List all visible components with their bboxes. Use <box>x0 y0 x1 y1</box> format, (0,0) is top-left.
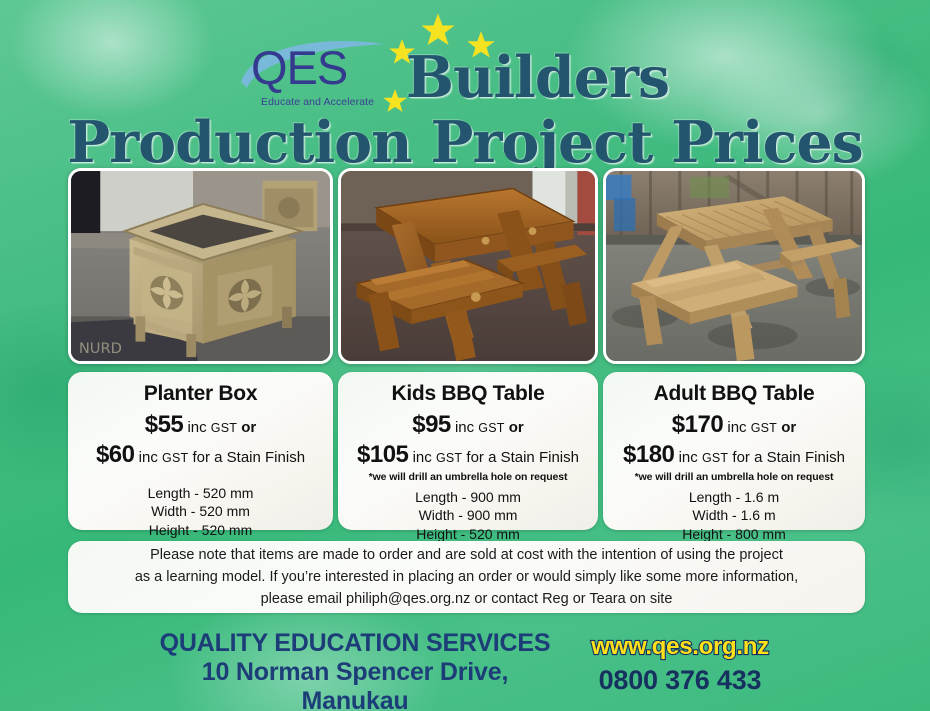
dimension-length: Length - 900 mm <box>344 488 592 506</box>
product-photo-kids-bbq-table[interactable] <box>338 168 598 364</box>
price-gst-label-stain: GST <box>162 451 188 465</box>
price-inc-label: inc <box>187 419 206 436</box>
price-or-label: or <box>509 419 524 436</box>
price-stain-tail: for a Stain Finish <box>732 449 845 466</box>
price-line-base: $55 inc GST or <box>74 411 327 439</box>
price-line-stain: $60 inc GST for a Stain Finish <box>74 441 327 469</box>
dimension-width: Width - 1.6 m <box>609 506 859 524</box>
price-amount-stain: $105 <box>357 441 408 468</box>
price-inc-label: inc <box>455 419 474 436</box>
price-amount: $170 <box>672 411 723 438</box>
card-title: Kids BBQ Table <box>344 382 592 406</box>
price-amount-stain: $60 <box>96 441 135 468</box>
price-gst-label: GST <box>211 421 237 435</box>
company-address: 10 Norman Spencer Drive, Manukau <box>155 658 555 711</box>
page-title-line1: Builders <box>0 44 930 111</box>
price-gst-label-stain: GST <box>702 451 728 465</box>
disclaimer-panel: Please note that items are made to order… <box>68 541 865 613</box>
dimension-length: Length - 520 mm <box>74 484 327 502</box>
star-icon <box>420 12 456 48</box>
dimensions-list: Length - 900 mm Width - 900 mm Height - … <box>344 488 592 543</box>
dimension-length: Length - 1.6 m <box>609 488 859 506</box>
price-stain-tail: for a Stain Finish <box>466 449 579 466</box>
price-inc-label-stain: inc <box>413 449 432 466</box>
dimension-height: Height - 520 mm <box>74 521 327 539</box>
price-line-stain: $180 inc GST for a Stain Finish <box>609 441 859 469</box>
poster-footer: QUALITY EDUCATION SERVICES 10 Norman Spe… <box>0 625 930 705</box>
dimensions-list: Length - 520 mm Width - 520 mm Height - … <box>74 484 327 539</box>
poster-root: QES Educate and Accelerate Builders Prod… <box>0 0 930 711</box>
price-stain-tail: for a Stain Finish <box>192 449 305 466</box>
price-card-planter-box[interactable]: Planter Box $55 inc GST or $60 inc GST f… <box>68 372 333 530</box>
card-title: Planter Box <box>74 382 327 406</box>
website-link[interactable]: www.qes.org.nz <box>565 633 795 661</box>
page-title-line2: Production Project Prices <box>0 109 930 176</box>
price-line-stain: $105 inc GST for a Stain Finish <box>344 441 592 469</box>
price-card-adult-bbq-table[interactable]: Adult BBQ Table $170 inc GST or $180 inc… <box>603 372 865 530</box>
price-gst-label: GST <box>478 421 504 435</box>
price-card-kids-bbq-table[interactable]: Kids BBQ Table $95 inc GST or $105 inc G… <box>338 372 598 530</box>
price-gst-label: GST <box>751 421 777 435</box>
price-inc-label: inc <box>727 419 746 436</box>
price-or-label: or <box>241 419 256 436</box>
disclaimer-line-2: as a learning model. If you’re intereste… <box>135 566 798 588</box>
price-line-base: $170 inc GST or <box>609 411 859 439</box>
company-name: QUALITY EDUCATION SERVICES <box>155 629 555 658</box>
product-photo-planter-box[interactable]: NURD <box>68 168 333 364</box>
dimensions-list: Length - 1.6 m Width - 1.6 m Height - 80… <box>609 488 859 543</box>
card-title: Adult BBQ Table <box>609 382 859 406</box>
dimension-width: Width - 900 mm <box>344 506 592 524</box>
disclaimer-line-3: please email philiph@qes.org.nz or conta… <box>261 588 673 610</box>
umbrella-hole-note: *we will drill an umbrella hole on reque… <box>344 471 592 483</box>
phone-number[interactable]: 0800 376 433 <box>565 665 795 696</box>
svg-text:NURD: NURD <box>79 340 122 357</box>
price-inc-label-stain: inc <box>139 449 158 466</box>
price-amount-stain: $180 <box>623 441 674 468</box>
disclaimer-line-1: Please note that items are made to order… <box>150 544 783 566</box>
price-gst-label-stain: GST <box>436 451 462 465</box>
price-or-label: or <box>781 419 796 436</box>
price-line-base: $95 inc GST or <box>344 411 592 439</box>
product-photo-adult-bbq-table[interactable] <box>603 168 865 364</box>
umbrella-hole-note: *we will drill an umbrella hole on reque… <box>609 471 859 483</box>
price-amount: $95 <box>412 411 451 438</box>
price-amount: $55 <box>145 411 184 438</box>
dimension-width: Width - 520 mm <box>74 502 327 520</box>
poster-header: QES Educate and Accelerate Builders Prod… <box>0 6 930 166</box>
price-inc-label-stain: inc <box>679 449 698 466</box>
